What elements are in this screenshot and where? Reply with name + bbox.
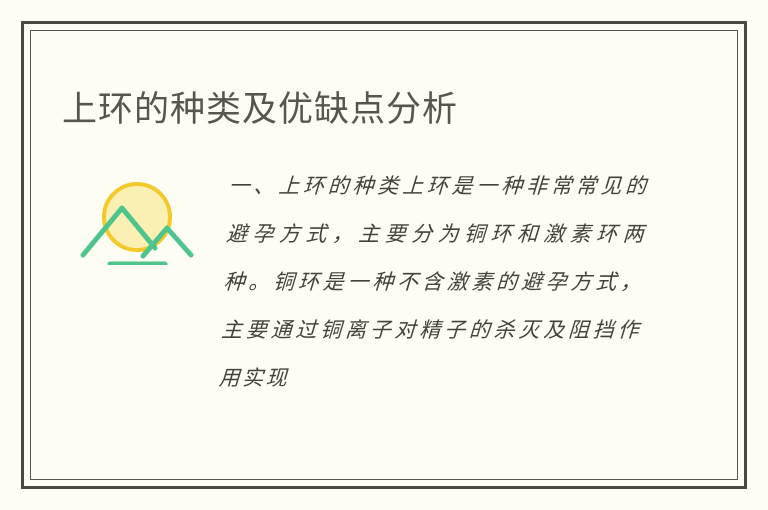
mountain-sunrise-icon	[77, 170, 197, 265]
article-content: 一、上环的种类上环是一种非常常见的避孕方式，主要分为铜环和激素环两种。铜环是一种…	[62, 160, 706, 410]
article-paragraph: 一、上环的种类上环是一种非常常见的避孕方式，主要分为铜环和激素环两种。铜环是一种…	[217, 162, 650, 402]
article-page: 上环的种类及优缺点分析 一、上环的种类上环是一种非常常见的避孕方式，主要分为铜环…	[0, 0, 768, 510]
page-title: 上环的种类及优缺点分析	[62, 87, 458, 133]
illustration-container	[62, 160, 212, 265]
article-body: 一、上环的种类上环是一种非常常见的避孕方式，主要分为铜环和激素环两种。铜环是一种…	[212, 160, 706, 402]
